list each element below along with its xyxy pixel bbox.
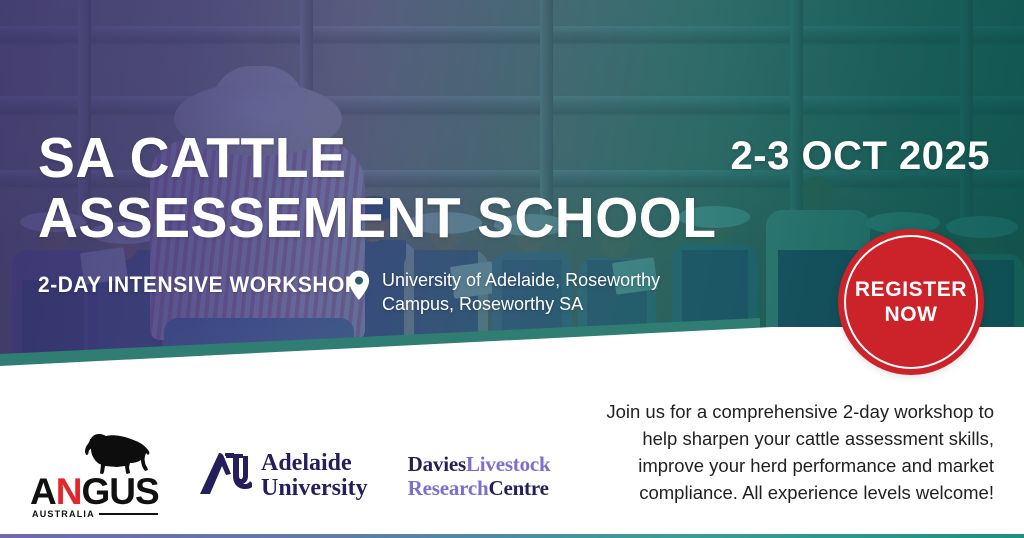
research-word: Research	[408, 476, 489, 500]
register-now-button[interactable]: REGISTER NOW	[838, 229, 984, 375]
event-banner: SA CATTLE ASSESSEMENT SCHOOL 2-DAY INTEN…	[0, 0, 1024, 538]
description-text: Join us for a comprehensive 2-day worksh…	[574, 398, 994, 506]
angus-tagline-text: AUSTRALIA	[32, 509, 95, 519]
adelaide-line-1: Adelaide	[261, 451, 368, 476]
adelaide-university-logo: Adelaide University	[198, 450, 368, 503]
angus-wordmark: ANGUS	[30, 473, 159, 510]
davies-word: Davies	[408, 452, 466, 476]
centre-word: Centre	[488, 476, 548, 500]
angus-tagline-rule	[99, 513, 158, 515]
livestock-word: Livestock	[466, 452, 551, 476]
event-location: University of Adelaide, Roseworthy Campu…	[348, 268, 682, 316]
headline-line-1: SA CATTLE	[38, 128, 716, 188]
davies-line-1: DaviesLivestock	[408, 452, 551, 476]
bottom-accent-strip	[0, 534, 1024, 538]
location-text: University of Adelaide, Roseworthy Campu…	[382, 268, 682, 316]
event-date: 2-3 OCT 2025	[731, 134, 990, 179]
partner-logos: ANGUS AUSTRALIA Adelaide University Davi…	[30, 430, 550, 522]
subheadline: 2-DAY INTENSIVE WORKSHOP	[38, 272, 359, 298]
angus-australia-logo: ANGUS AUSTRALIA	[30, 433, 158, 519]
angus-letters-gus: GUS	[81, 471, 158, 512]
register-label-line-1: REGISTER	[855, 277, 967, 302]
angus-tagline: AUSTRALIA	[32, 509, 158, 519]
au-monogram-icon	[198, 450, 252, 503]
map-pin-icon	[348, 270, 370, 305]
adelaide-line-2: University	[261, 476, 368, 501]
headline-line-2: ASSESSEMENT SCHOOL	[38, 188, 716, 248]
davies-line-2: ResearchCentre	[408, 476, 551, 500]
davies-livestock-research-centre-logo: DaviesLivestock ResearchCentre	[408, 452, 551, 500]
angus-letter-a: A	[30, 471, 56, 512]
adelaide-university-wordmark: Adelaide University	[261, 451, 368, 501]
register-label-line-2: NOW	[884, 302, 937, 327]
page-title: SA CATTLE ASSESSEMENT SCHOOL	[38, 128, 737, 248]
angus-letter-n: N	[56, 471, 82, 512]
